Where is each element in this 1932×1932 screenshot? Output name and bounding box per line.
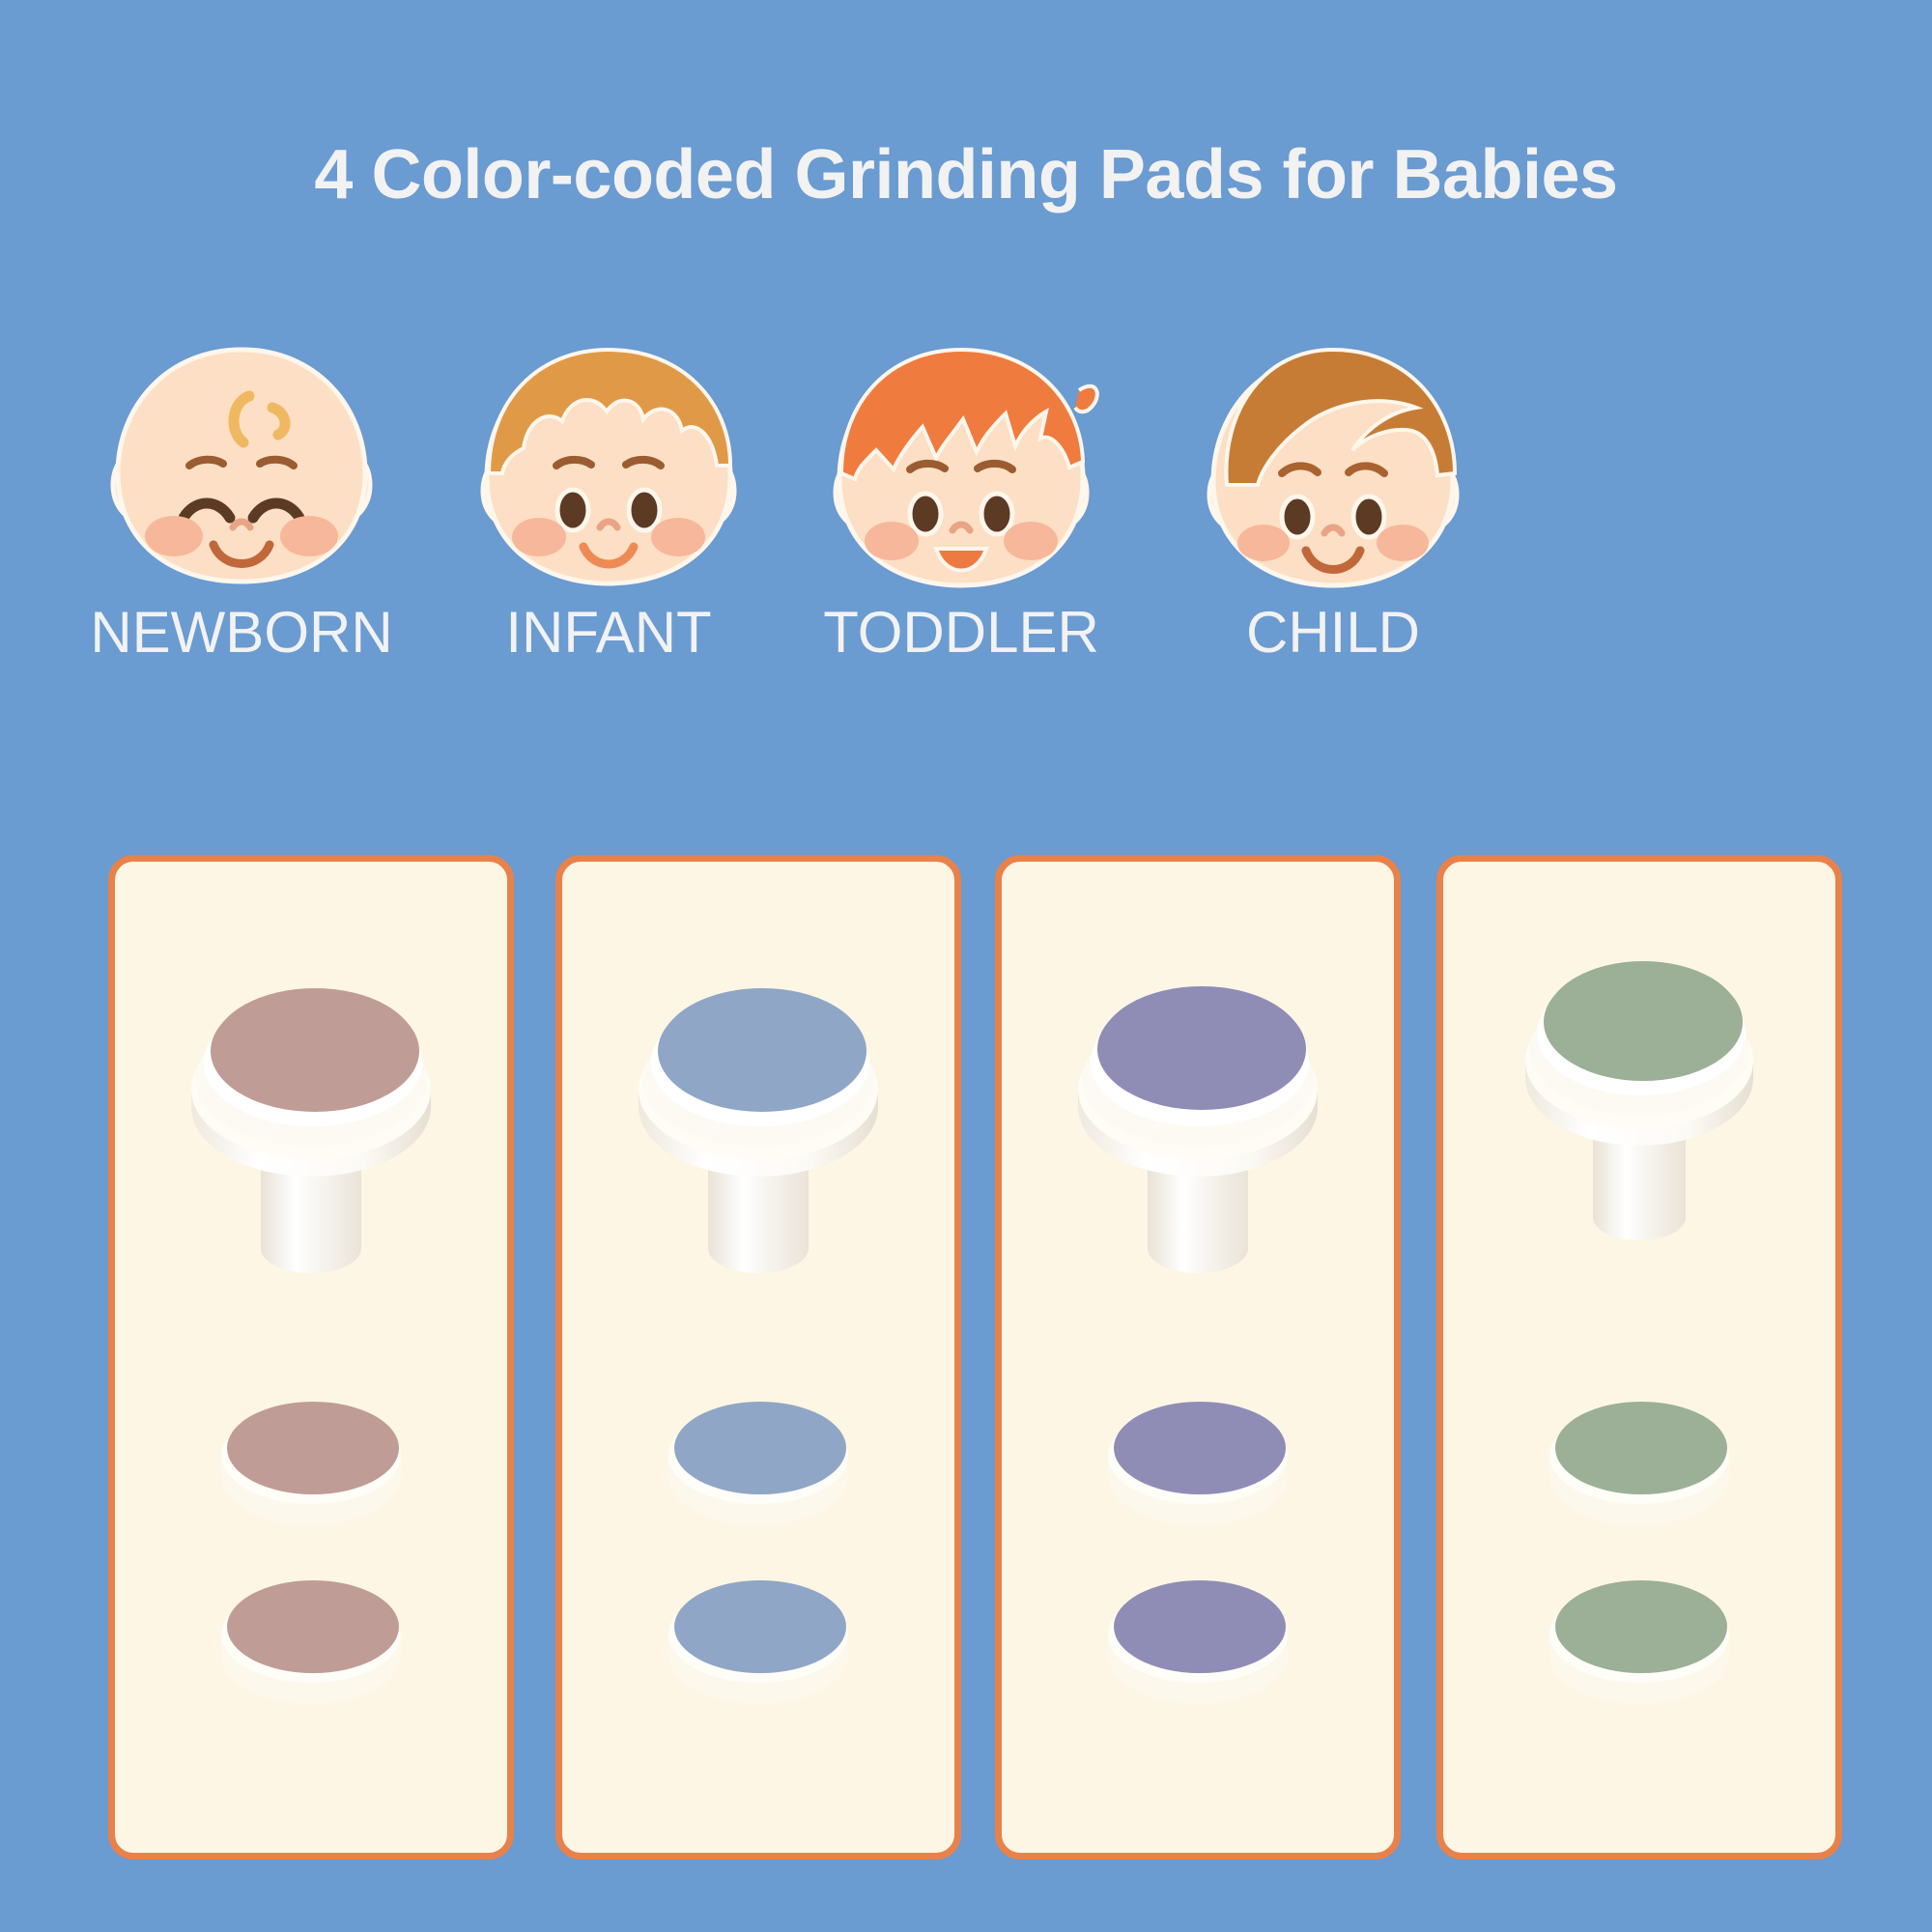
spare-pad-newborn-1 bbox=[195, 1388, 427, 1533]
pad-card-infant[interactable] bbox=[555, 855, 961, 1860]
page-title: 4 Color-coded Grinding Pads for Babies bbox=[0, 135, 1932, 214]
spare-pad-toddler-2 bbox=[1082, 1567, 1314, 1712]
pad-card-toddler[interactable] bbox=[995, 855, 1401, 1860]
spare-pad-infant-2 bbox=[642, 1567, 874, 1712]
pad-card-child[interactable] bbox=[1436, 855, 1842, 1860]
age-group-faces-row: NEWBORN bbox=[0, 338, 1932, 773]
spare-pad-child-2 bbox=[1523, 1567, 1755, 1712]
grinder-device-infant bbox=[594, 900, 923, 1354]
pad-cards-row bbox=[0, 855, 1932, 1864]
spare-pad-infant-1 bbox=[642, 1388, 874, 1533]
child-face-icon bbox=[1188, 338, 1478, 589]
spare-pad-child-1 bbox=[1523, 1388, 1755, 1533]
grinder-device-child bbox=[1475, 881, 1804, 1335]
age-label-child: CHILD bbox=[1092, 599, 1575, 666]
pad-card-newborn[interactable] bbox=[108, 855, 514, 1860]
infographic-canvas: 4 Color-coded Grinding Pads for Babies bbox=[0, 0, 1932, 1932]
spare-pad-newborn-2 bbox=[195, 1567, 427, 1712]
age-group-child: CHILD bbox=[1092, 338, 1575, 773]
toddler-face-icon bbox=[816, 338, 1106, 589]
grinder-device-newborn bbox=[147, 900, 475, 1354]
newborn-face-icon bbox=[97, 338, 386, 589]
infant-face-icon bbox=[464, 338, 753, 589]
grinder-device-toddler bbox=[1034, 900, 1362, 1354]
spare-pad-toddler-1 bbox=[1082, 1388, 1314, 1533]
